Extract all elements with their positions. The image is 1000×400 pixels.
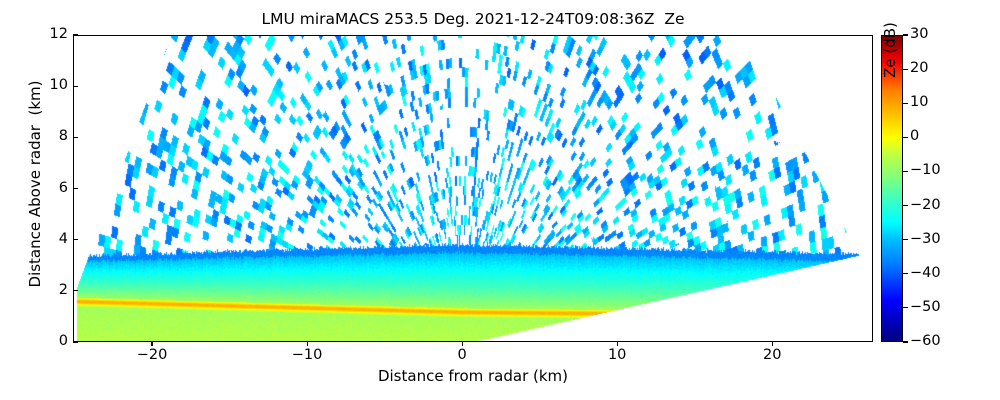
- y-tick: [73, 34, 78, 35]
- x-tick: [151, 341, 152, 346]
- x-ticklabel: 10: [587, 347, 647, 363]
- colorbar-ticklabel: 30: [910, 26, 928, 42]
- x-ticklabel: −10: [277, 347, 337, 363]
- radar-rhi-figure: LMU miraMACS 253.5 Deg. 2021-12-24T09:08…: [0, 0, 1000, 400]
- radar-reflectivity-image: [74, 36, 873, 342]
- y-tick: [73, 86, 78, 87]
- colorbar-tick: [903, 239, 908, 240]
- colorbar-tick: [903, 273, 908, 274]
- colorbar-ticklabel: −40: [910, 265, 941, 281]
- colorbar-label: Ze (dB): [881, 0, 899, 120]
- y-tick: [73, 188, 78, 189]
- x-tick: [462, 341, 463, 346]
- x-ticklabel: 0: [432, 347, 492, 363]
- colorbar-tick: [903, 341, 908, 342]
- colorbar-ticklabel: 20: [910, 60, 928, 76]
- colorbar-tick: [903, 205, 908, 206]
- x-axis-label: Distance from radar (km): [73, 367, 873, 385]
- colorbar-ticklabel: 10: [910, 94, 928, 110]
- colorbar-ticklabel: −10: [910, 162, 941, 178]
- colorbar-tick: [903, 103, 908, 104]
- colorbar-tick: [903, 307, 908, 308]
- page-title: LMU miraMACS 253.5 Deg. 2021-12-24T09:08…: [73, 9, 873, 29]
- colorbar-tick: [903, 34, 908, 35]
- y-tick: [73, 239, 78, 240]
- x-tick: [772, 341, 773, 346]
- colorbar-ticklabel: −50: [910, 299, 941, 315]
- y-tick: [73, 341, 78, 342]
- x-ticklabel: 20: [742, 347, 802, 363]
- y-tick: [73, 137, 78, 138]
- colorbar-tick: [903, 137, 908, 138]
- y-tick: [73, 290, 78, 291]
- colorbar-ticklabel: 0: [910, 128, 919, 144]
- x-tick: [307, 341, 308, 346]
- x-ticklabel: −20: [122, 347, 182, 363]
- colorbar-ticklabel: −60: [910, 333, 941, 349]
- colorbar-tick: [903, 69, 908, 70]
- colorbar-ticklabel: −20: [910, 197, 941, 213]
- y-axis-label: Distance Above radar (km): [26, 19, 44, 349]
- colorbar-ticklabel: −30: [910, 231, 941, 247]
- x-tick: [617, 341, 618, 346]
- plot-axes: [73, 35, 873, 342]
- colorbar-tick: [903, 171, 908, 172]
